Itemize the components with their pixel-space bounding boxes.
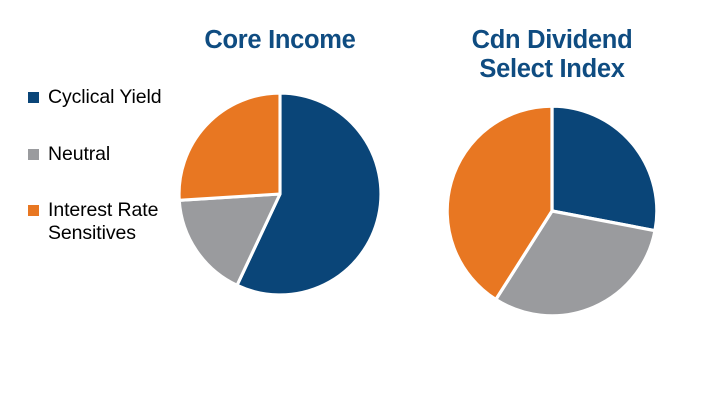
legend-item-cyclical-yield: Cyclical Yield [28,86,188,109]
pie-chart-cdn-dividend-select-index [445,104,659,318]
chart-title: Core Income [176,26,384,55]
pie-core-income-svg [177,91,383,297]
legend-item-interest-rate-sensitives: Interest Rate Sensitives [28,199,188,244]
legend-item-label: Cyclical Yield [48,86,161,109]
gray-square-icon [28,149,39,160]
chart-cdn-dividend-select-index: Cdn Dividend Select Index [436,26,668,84]
navy-square-icon [28,92,39,103]
pie-chart-core-income [177,91,383,297]
slide-canvas: Cyclical Yield Neutral Interest Rate Sen… [0,0,728,405]
legend-item-label: Interest Rate Sensitives [48,199,188,244]
legend-item-neutral: Neutral [28,143,188,166]
legend-item-label: Neutral [48,143,110,166]
orange-square-icon [28,205,39,216]
legend: Cyclical Yield Neutral Interest Rate Sen… [28,86,188,278]
chart-core-income: Core Income [176,26,384,55]
pie-slice [552,106,657,231]
chart-title: Cdn Dividend Select Index [436,26,668,84]
pie-cdn-dividend-select-index-svg [445,104,659,318]
pie-slice [179,93,280,200]
